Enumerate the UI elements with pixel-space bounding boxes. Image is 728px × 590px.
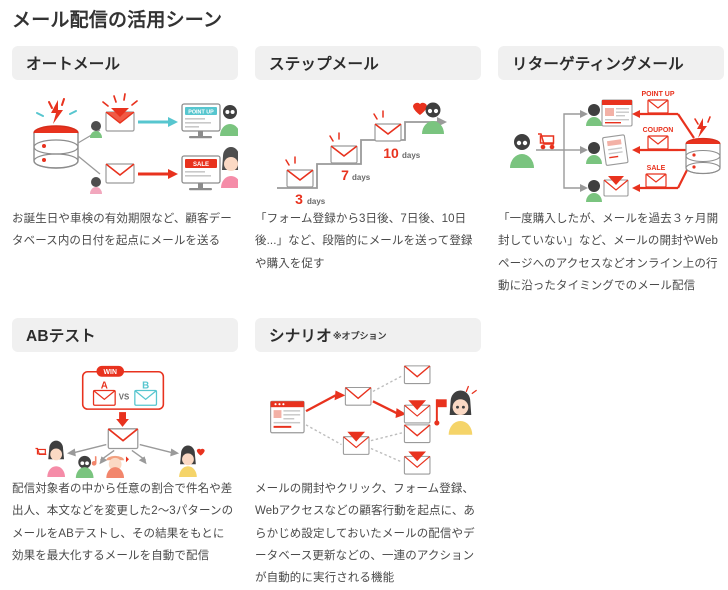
card-body: 「一度購入したが、メールを過去３ヶ月開封していない」など、メールの開封やWebペ…	[498, 208, 724, 298]
page-title: メール配信の活用シーン	[12, 5, 222, 32]
svg-text:days: days	[402, 151, 421, 160]
card-auto-mail: オートメール	[12, 46, 238, 298]
card-title-note: ※オプション	[333, 329, 387, 342]
svg-text:POINT UP: POINT UP	[188, 110, 214, 116]
card-header-scenario: シナリオ ※オプション	[255, 318, 481, 352]
figure-ab-test-diagram: WIN A VS B	[12, 358, 238, 478]
card-retargeting-mail: リターゲティングメール	[498, 46, 724, 298]
figure-retargeting-diagram: POINT UP	[498, 86, 724, 208]
svg-text:days: days	[307, 197, 326, 206]
card-header-step-mail: ステップメール	[255, 46, 481, 80]
card-title: ABテスト	[26, 324, 96, 346]
page-root: メール配信の活用シーン オートメール	[0, 0, 728, 589]
svg-text:SALE: SALE	[193, 162, 209, 168]
card-scenario: シナリオ ※オプション	[255, 318, 481, 590]
figure-step-mail-diagram: 3 days 7 days	[255, 86, 481, 208]
svg-text:VS: VS	[119, 392, 129, 401]
figure-scenario-diagram	[255, 358, 481, 478]
card-body: メールの開封やクリック、フォーム登録、Webアクセスなどの顧客行動を起点に、あら…	[255, 478, 481, 590]
svg-text:10: 10	[383, 145, 399, 161]
figure-auto-mail-diagram: POINT UP	[12, 86, 238, 208]
card-title: オートメール	[26, 52, 120, 74]
svg-text:POINT UP: POINT UP	[641, 91, 674, 98]
card-title: リターゲティングメール	[512, 52, 684, 74]
svg-text:7: 7	[341, 167, 349, 183]
card-step-mail: ステップメール	[255, 46, 481, 298]
svg-text:COUPON: COUPON	[643, 127, 674, 134]
scene-card-grid: オートメール	[12, 46, 724, 590]
card-header-ab-test: ABテスト	[12, 318, 238, 352]
card-header-retargeting-mail: リターゲティングメール	[498, 46, 724, 80]
card-ab-test: ABテスト WIN A VS	[12, 318, 238, 590]
card-body: お誕生日や車検の有効期限など、顧客データベース内の日付を起点にメールを送る	[12, 208, 238, 253]
card-header-auto-mail: オートメール	[12, 46, 238, 80]
svg-text:3: 3	[295, 191, 303, 207]
card-title: ステップメール	[269, 52, 379, 74]
card-title: シナリオ	[269, 324, 332, 346]
svg-text:SALE: SALE	[647, 165, 666, 172]
card-body: 配信対象者の中から任意の割合で件名や差出人、本文などを変更した2〜3パターンのメ…	[12, 478, 238, 568]
svg-text:WIN: WIN	[104, 369, 117, 376]
card-body: 「フォーム登録から3日後、7日後、10日後...」など、段階的にメールを送って登…	[255, 208, 481, 275]
svg-text:days: days	[352, 173, 371, 182]
